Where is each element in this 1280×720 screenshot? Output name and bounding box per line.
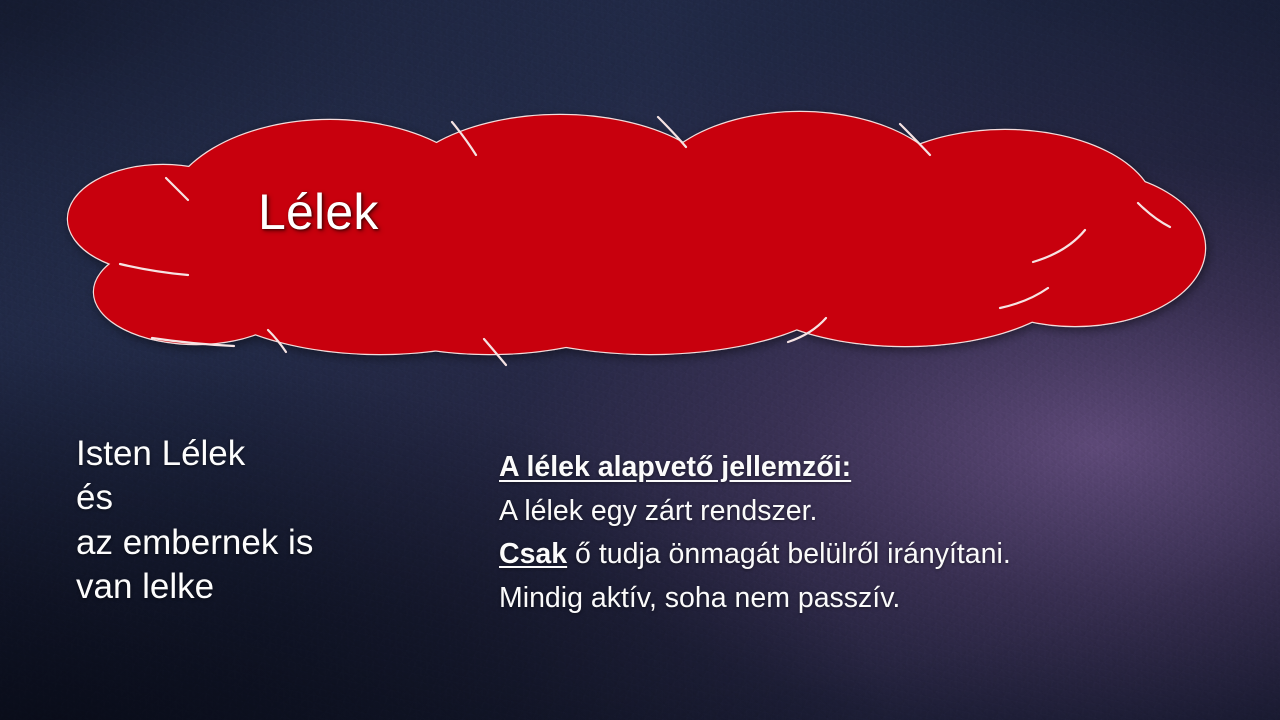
right-text-heading-line: A lélek alapvető jellemzői:: [499, 446, 1199, 490]
right-text-line-3: Csak ő tudja önmagát belülről irányítani…: [499, 533, 1199, 577]
left-text-line-2: és: [76, 476, 476, 520]
slide-title: Lélek: [258, 186, 379, 239]
left-text-line-3: az embernek is: [76, 521, 476, 565]
right-text-line-3-rest: ő tudja önmagát belülről irányítani.: [567, 538, 1011, 570]
left-text-block: Isten Lélek és az embernek is van lelke: [76, 432, 476, 610]
right-text-heading: A lélek alapvető jellemzői:: [499, 451, 851, 483]
right-text-block: A lélek alapvető jellemzői: A lélek egy …: [499, 446, 1199, 620]
right-text-line-4: Mindig aktív, soha nem passzív.: [499, 577, 1199, 621]
presentation-slide: Lélek Isten Lélek és az embernek is van …: [0, 0, 1280, 720]
left-text-line-1: Isten Lélek: [76, 432, 476, 476]
left-text-line-4: van lelke: [76, 565, 476, 609]
right-text-line-2: A lélek egy zárt rendszer.: [499, 490, 1199, 534]
right-text-emphasis-word: Csak: [499, 538, 567, 570]
